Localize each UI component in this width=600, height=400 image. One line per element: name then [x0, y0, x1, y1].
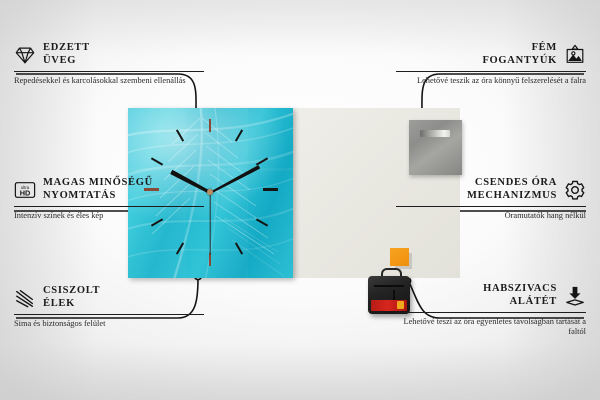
hand-cap [207, 189, 213, 195]
gear-icon [564, 179, 586, 201]
divider [396, 206, 586, 207]
feature-title: CSISZOLT ÉLEK [43, 285, 100, 310]
divider [14, 314, 204, 315]
divider [396, 71, 586, 72]
feature-title: MAGAS MINŐSÉGŰ NYOMTATÁS [43, 177, 153, 202]
divider [396, 312, 586, 313]
feature-description: Lehetővé teszik az óra könnyű felszerelé… [396, 76, 586, 86]
feature-polished-edges[interactable]: CSISZOLT ÉLEK Sima és biztonságos felüle… [14, 285, 204, 329]
feature-title-line1: EDZETT [43, 42, 90, 55]
feature-title-line1: FÉM [396, 42, 557, 55]
feature-description: Lehetővé teszi az óra egyenletes távolsá… [396, 317, 586, 338]
feature-title-line1: CSENDES ÓRA [396, 177, 557, 190]
feature-title-line2: NYOMTATÁS [43, 190, 153, 203]
divider [14, 71, 204, 72]
divider [14, 206, 204, 207]
feature-title: CSENDES ÓRA MECHANIZMUS [396, 177, 557, 202]
tick-12 [209, 119, 211, 132]
feature-foam-pad[interactable]: HABSZIVACS ALÁTÉT Lehetővé teszi az óra … [396, 283, 586, 338]
feature-description: Repedésekkel és karcolásokkal szembeni e… [14, 76, 204, 86]
feature-title-line2: ÜVEG [43, 55, 90, 68]
feature-title-line1: CSISZOLT [43, 285, 100, 298]
feature-title-line2: MECHANIZMUS [396, 190, 557, 203]
feature-header: HABSZIVACS ALÁTÉT [396, 283, 586, 308]
feature-description: Sima és biztonságos felület [14, 319, 204, 329]
feature-header: ultra HD MAGAS MINŐSÉGŰ NYOMTATÁS [14, 177, 204, 202]
foam-pad-icon [564, 285, 586, 307]
feature-header: CSISZOLT ÉLEK [14, 285, 204, 310]
feature-tempered-glass[interactable]: EDZETT ÜVEG Repedésekkel és karcolásokka… [14, 42, 204, 86]
infographic-canvas: EDZETT ÜVEG Repedésekkel és karcolásokka… [0, 0, 600, 400]
feature-description: Intenzív színek és éles kép [14, 211, 204, 221]
feature-title-line1: HABSZIVACS [396, 283, 557, 296]
feature-title: EDZETT ÜVEG [43, 42, 90, 67]
feature-description: Óramutatók hang nélkül [396, 211, 586, 221]
feature-high-quality-print[interactable]: ultra HD MAGAS MINŐSÉGŰ NYOMTATÁS Intenz… [14, 177, 204, 221]
feature-title-line2: ÉLEK [43, 298, 100, 311]
feature-header: EDZETT ÜVEG [14, 42, 204, 67]
feature-title: FÉM FOGANTYÚK [396, 42, 557, 67]
feature-metal-handles[interactable]: FÉM FOGANTYÚK Lehetővé teszik az óra kön… [396, 42, 586, 86]
feature-header: FÉM FOGANTYÚK [396, 42, 586, 67]
tick-6 [209, 253, 211, 266]
diamond-icon [14, 44, 36, 66]
feature-silent-clock-mechanism[interactable]: CSENDES ÓRA MECHANIZMUS Óramutatók hang … [396, 177, 586, 221]
feature-title-line2: ALÁTÉT [396, 296, 557, 309]
tick-3 [263, 188, 278, 191]
second-hand [209, 193, 210, 255]
metal-hanger-plate [409, 120, 462, 175]
picture-hanger-icon [564, 44, 586, 66]
feature-title-line1: MAGAS MINŐSÉGŰ [43, 177, 153, 190]
foam-pad [390, 248, 409, 266]
feature-header: CSENDES ÓRA MECHANIZMUS [396, 177, 586, 202]
polished-edge-icon [14, 287, 36, 309]
feature-title: HABSZIVACS ALÁTÉT [396, 283, 557, 308]
ultra-hd-icon-large-text: HD [20, 188, 31, 197]
feature-title-line2: FOGANTYÚK [396, 55, 557, 68]
hanger-slot [420, 130, 450, 137]
ultra-hd-icon: ultra HD [14, 179, 36, 201]
